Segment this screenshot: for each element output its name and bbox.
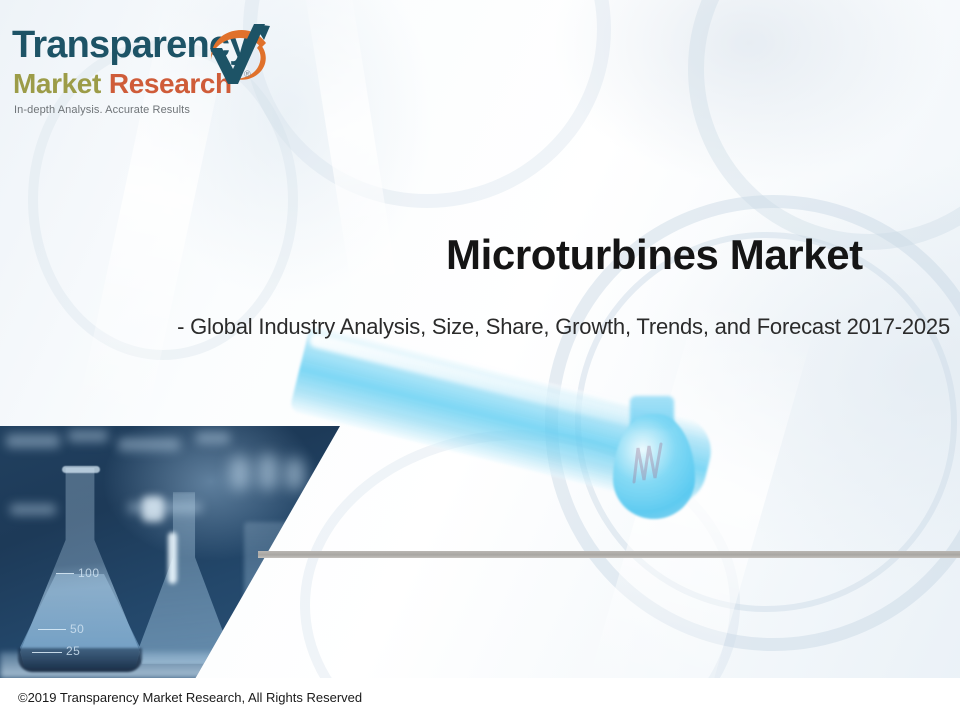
logo-word-market: Market (13, 68, 101, 99)
light-streak (584, 292, 815, 720)
flask-marking-50: 50 (70, 622, 84, 636)
logo-word-market-research: MarketResearch (13, 70, 232, 98)
background-flask-highlight (168, 532, 177, 584)
logo-tagline: In-depth Analysis. Accurate Results (14, 104, 190, 116)
test-tube-highlight (285, 458, 304, 490)
logo[interactable]: Transparency MarketResearch In-depth Ana… (12, 26, 262, 126)
page-title: Microturbines Market (446, 232, 946, 278)
flask-marking-25: 25 (66, 644, 80, 658)
page-subtitle: - Global Industry Analysis, Size, Share,… (74, 313, 950, 341)
photo-blur (10, 504, 56, 515)
registered-mark-icon: ® (244, 69, 251, 79)
glassware-ring (688, 0, 960, 250)
photo-blur (68, 430, 108, 442)
copyright-text: ©2019 Transparency Market Research, All … (18, 690, 362, 705)
flask-marking-100: 100 (78, 566, 100, 580)
droplet-marks (628, 436, 676, 488)
photo-blur (6, 434, 60, 448)
checkmark-arrow-swoosh-icon (202, 20, 278, 92)
flask-tick (56, 573, 74, 574)
light-streak (301, 0, 406, 341)
photo-blur (196, 432, 230, 444)
test-tube-highlight (258, 454, 278, 490)
flask-rim (62, 466, 100, 473)
flask-tick (32, 652, 62, 653)
slide-root: 100 50 25 Transparency MarketResearch In… (0, 0, 960, 720)
photo-blur (118, 438, 180, 451)
divider-rule (258, 551, 960, 558)
flask-tick (38, 629, 66, 630)
photo-highlight (142, 496, 164, 522)
glassware-ring (243, 0, 611, 208)
test-tube-highlight (230, 456, 250, 490)
